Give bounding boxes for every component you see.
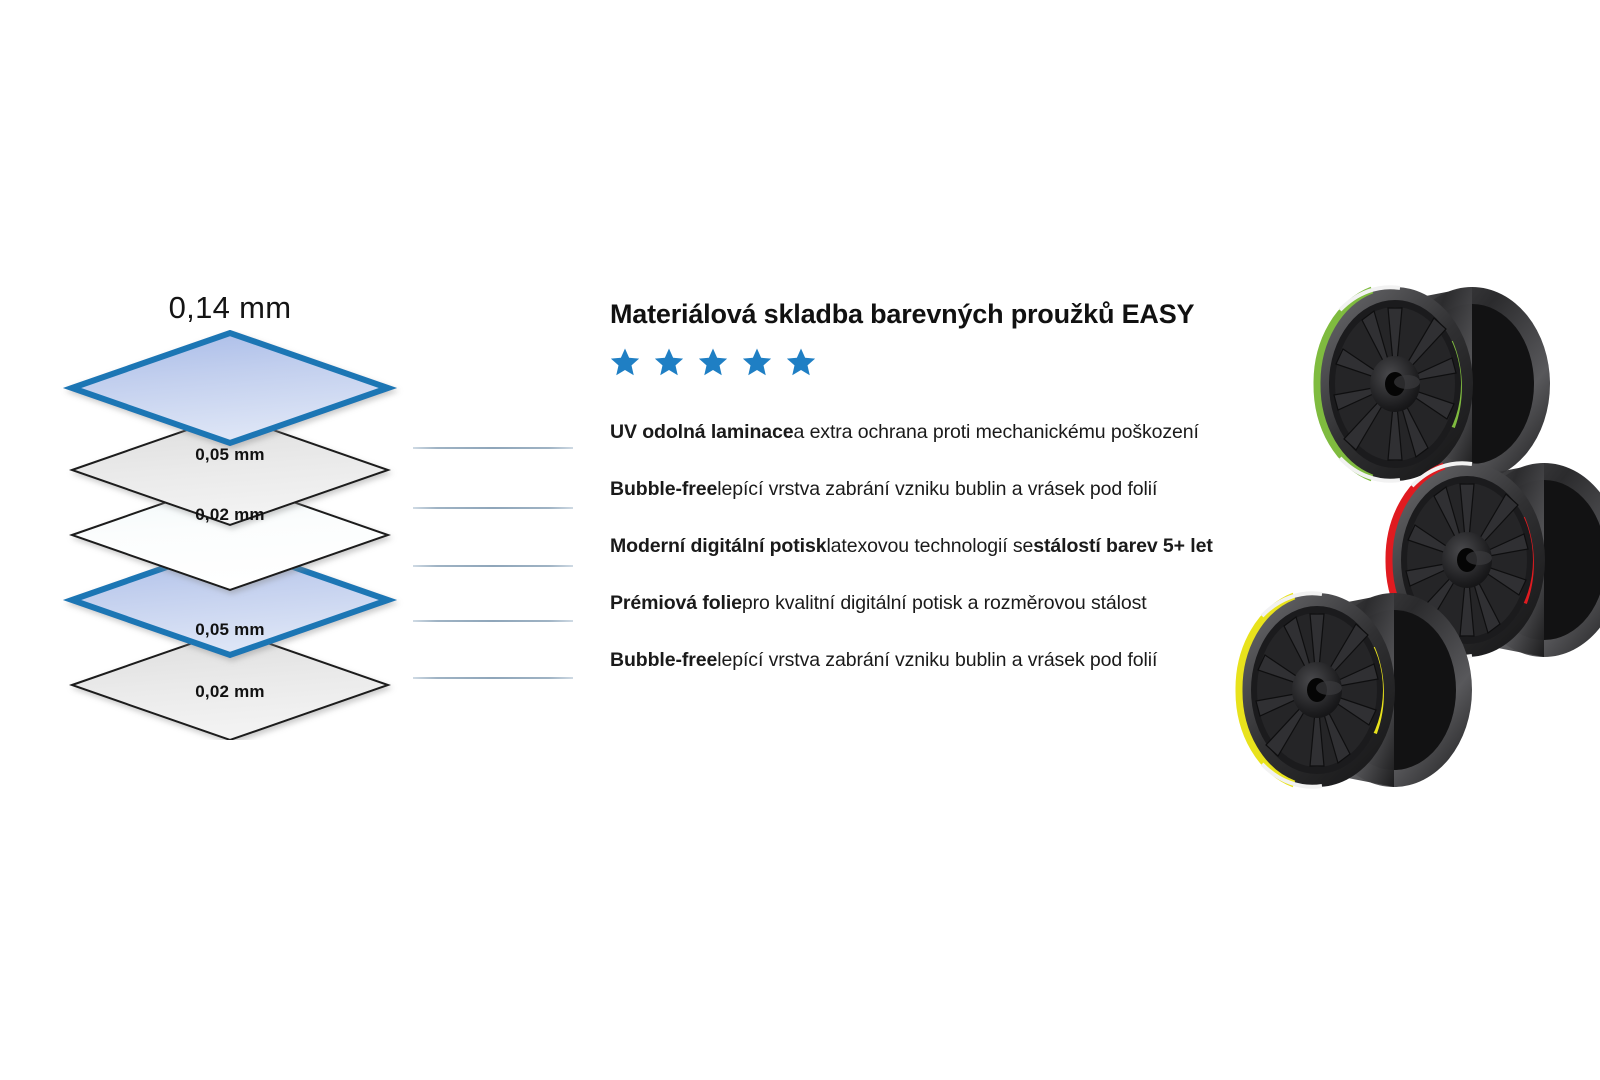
feature-text: a extra ochrana proti mechanickému poško… [794,421,1199,444]
feature-bold-prefix: Prémiová folie [610,592,742,615]
layer-caption-adhesive-bottom: 0,02 mm [40,682,420,702]
star-icon [610,347,640,377]
connector-line [413,447,573,449]
feature-bold-prefix: UV odolná laminace [610,421,794,444]
feature-bold-prefix: Moderní digitální potisk [610,535,826,558]
total-thickness-label: 0,14 mm [40,290,420,326]
layer-shape-laminate [72,333,388,443]
connector-lines [405,420,585,700]
feature-item: UV odolná laminace a extra ochrana proti… [610,404,1330,461]
layer-caption-adhesive-top: 0,02 mm [40,505,420,525]
star-icon [654,347,684,377]
feature-item: Bubble-free lepící vrstva zabrání vzniku… [610,461,1330,518]
star-icon [786,347,816,377]
wheel-green-graphic [1300,282,1590,487]
layer-caption-premium-film: 0,05 mm [40,620,420,640]
connector-line [413,677,573,679]
layer-stack-graphic [40,330,420,740]
layer-caption-laminate: 0,05 mm [40,445,420,465]
feature-bold-prefix: Bubble-free [610,649,717,672]
feature-text: lepící vrstva zabrání vzniku bublin a vr… [717,478,1157,501]
wheel-yellow [1222,588,1512,793]
feature-bold-suffix: stálostí barev 5+ let [1033,535,1212,558]
connector-line [413,565,573,567]
connector-line [413,507,573,509]
feature-text: latexovou technologií se [826,535,1033,558]
feature-item: Moderní digitální potisk latexovou techn… [610,518,1330,575]
wheel-green [1300,282,1590,487]
star-icon [742,347,772,377]
star-icon [698,347,728,377]
feature-bold-prefix: Bubble-free [610,478,717,501]
star-rating [610,344,1330,380]
layer-stack-diagram: 0,14 mm [40,290,420,740]
feature-text: pro kvalitní digitální potisk a rozměrov… [742,592,1147,615]
page-title: Materiálová skladba barevných proužků EA… [610,300,1330,330]
feature-text: lepící vrstva zabrání vzniku bublin a vr… [717,649,1157,672]
connector-line [413,620,573,622]
wheel-yellow-graphic [1222,588,1512,793]
